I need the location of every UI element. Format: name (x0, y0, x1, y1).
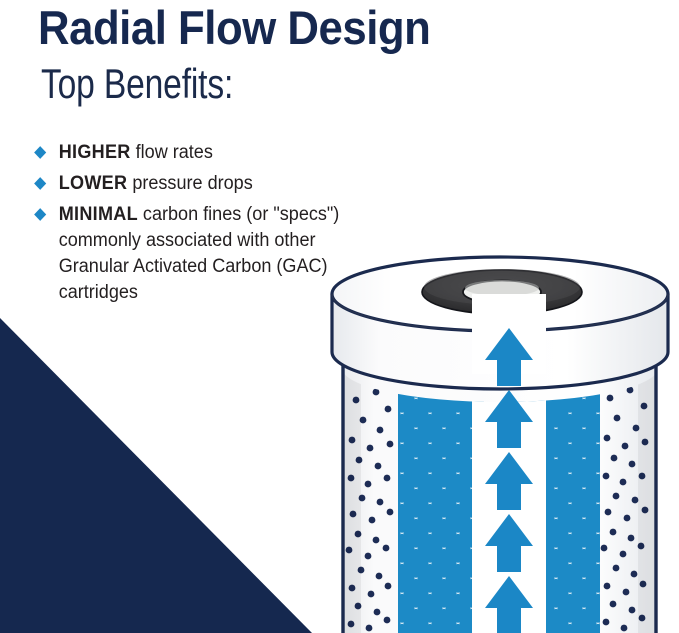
benefit-lead: MINIMAL (59, 204, 138, 225)
cartridge-svg (318, 248, 679, 633)
poster-canvas: Radial Flow Design Top Benefits: HIGHER … (0, 0, 679, 633)
gasket-hole-shadow (465, 280, 539, 296)
page-subtitle: Top Benefits: (41, 60, 233, 108)
filter-cartridge-illustration (318, 248, 679, 633)
diamond-bullet-icon (34, 177, 46, 190)
diamond-bullet-icon (34, 208, 46, 221)
benefit-lead: HIGHER (59, 142, 131, 163)
benefit-rest: flow rates (131, 142, 213, 163)
list-item: LOWER pressure drops (34, 171, 386, 197)
wedge-shape (0, 318, 312, 633)
list-item: HIGHER flow rates (34, 140, 386, 166)
page-title: Radial Flow Design (38, 2, 430, 54)
benefit-rest: pressure drops (127, 173, 252, 194)
diamond-bullet-icon (34, 146, 46, 159)
benefit-lead: LOWER (59, 173, 128, 194)
